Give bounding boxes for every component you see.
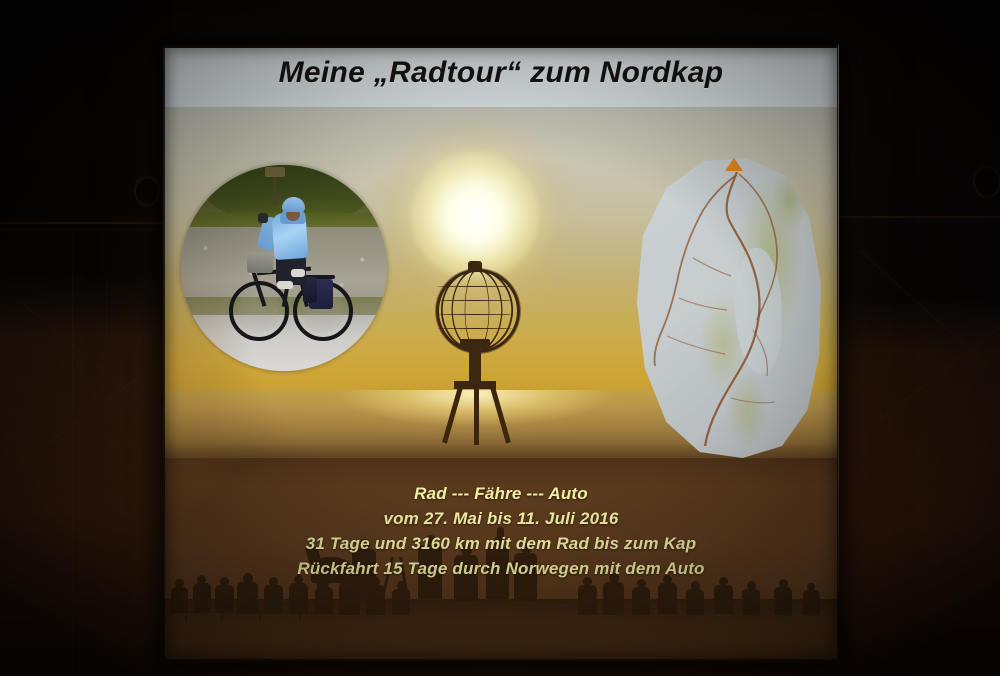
- cyclist-glove: [258, 213, 268, 223]
- silhouette-body: [774, 587, 792, 615]
- cyclist-shoe: [277, 281, 293, 289]
- globe-support-leg: [490, 386, 511, 443]
- railing-post: [259, 603, 261, 621]
- globe-parallel: [437, 300, 513, 302]
- silhouette-body: [237, 582, 258, 614]
- wall-panel-edge: [0, 222, 172, 224]
- silhouette-body: [803, 590, 820, 615]
- caption-line: vom 27. Mai bis 11. Juli 2016: [163, 506, 839, 531]
- room-wall-left-panel: [0, 0, 172, 676]
- caption-line: Rad --- Fähre --- Auto: [163, 481, 839, 506]
- slide-title: Meine „Radtour“ zum Nordkap: [163, 56, 839, 90]
- nordkap-globe-monument: [416, 269, 536, 481]
- silhouette-body: [658, 583, 677, 614]
- silhouette-body: [171, 587, 188, 613]
- map-paper: [633, 158, 829, 458]
- silhouette-body: [714, 585, 733, 614]
- caption-line: Rückfahrt 15 Tage durch Norwegen mit dem…: [163, 556, 839, 581]
- nordkap-marker-icon: [725, 158, 743, 171]
- slide-title-banner: Meine „Radtour“ zum Nordkap: [163, 48, 839, 107]
- wall-panel-seam: [106, 232, 107, 676]
- door-knob-icon: [136, 178, 158, 204]
- silhouette-body: [264, 585, 283, 614]
- cyclist-shoe: [291, 269, 305, 277]
- wall-panel-edge: [0, 229, 172, 230]
- silhouette-body: [742, 589, 760, 615]
- globe-parallel: [437, 286, 513, 288]
- signpost-plate: [265, 167, 285, 177]
- silhouette-body: [215, 585, 234, 613]
- silhouette-body: [193, 583, 211, 613]
- slide-background-photo: Rad --- Fähre --- Auto vom 27. Mai bis 1…: [163, 107, 839, 661]
- projected-slide-photo: Meine „Radtour“ zum Nordkap: [0, 0, 1000, 676]
- cyclist-circle-photo: [181, 165, 387, 371]
- scandinavia-route-map: [629, 152, 835, 464]
- horse-leg: [317, 581, 322, 605]
- silhouette-body: [289, 583, 308, 614]
- door-knob-icon-right: [975, 168, 999, 196]
- map-projection-shading: [633, 158, 829, 458]
- wall-panel-edge-right: [839, 216, 1000, 218]
- silhouette-body: [632, 587, 650, 615]
- handlebar-bag: [247, 253, 273, 273]
- globe-parallel: [437, 328, 513, 330]
- horse-leg: [343, 581, 348, 605]
- projection-screen: Meine „Radtour“ zum Nordkap: [163, 45, 839, 661]
- caption-line: 31 Tage und 3160 km mit dem Rad bis zum …: [163, 531, 839, 556]
- screen-edge-highlight: [838, 45, 839, 605]
- globe-support-leg: [442, 386, 463, 443]
- wall-panel-seam: [72, 232, 73, 676]
- slide-caption: Rad --- Fähre --- Auto vom 27. Mai bis 1…: [163, 481, 839, 581]
- silhouette-body: [578, 585, 597, 615]
- silhouette-body: [603, 582, 624, 615]
- globe-parallel: [437, 314, 513, 316]
- globe-support-leg: [474, 387, 479, 445]
- silhouette-body: [686, 589, 704, 615]
- cyclist-helmet: [282, 197, 305, 212]
